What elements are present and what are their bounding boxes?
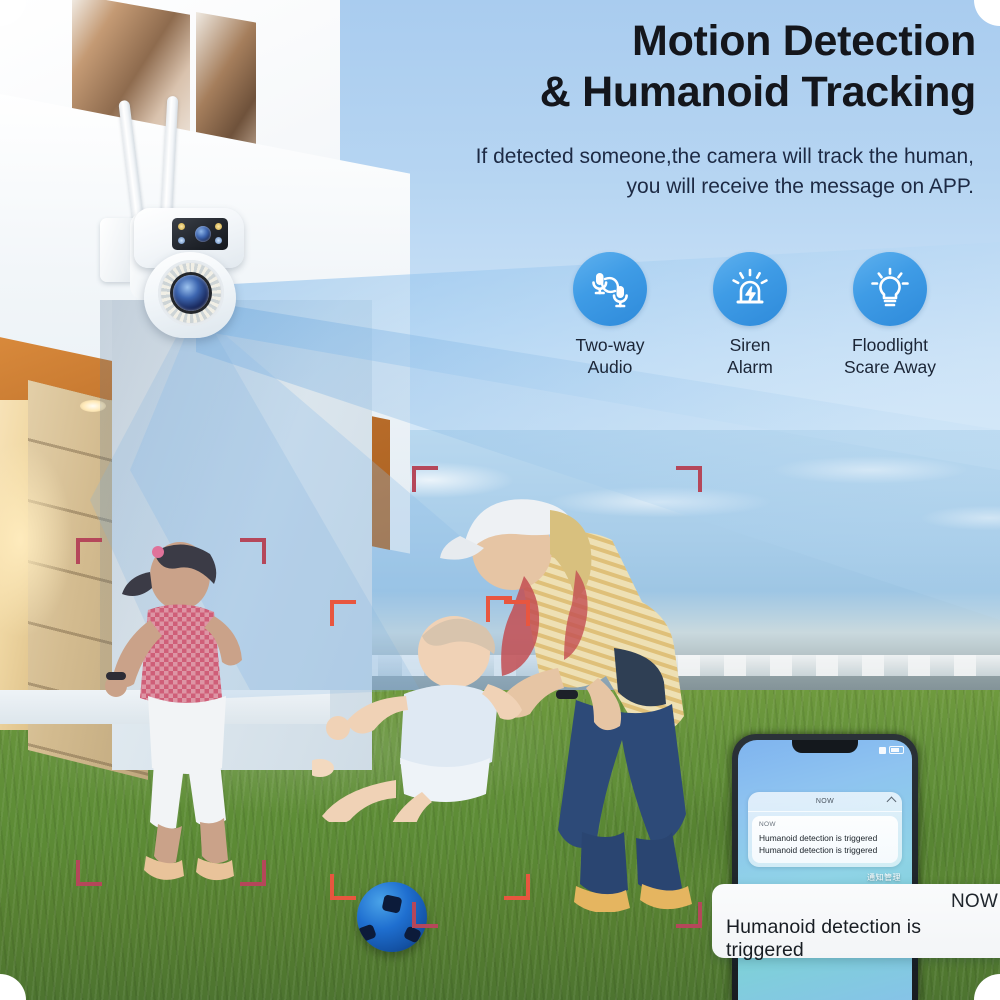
wall-light-glow — [0, 430, 95, 670]
feature-label-line2: Audio — [588, 357, 633, 377]
feature-label-two-way-audio: Two-way Audio — [575, 335, 644, 378]
notification-header-label: NOW — [816, 798, 834, 805]
notification-card[interactable]: NOW Humanoid detection is triggered Huma… — [752, 816, 898, 863]
feature-label-line2: Alarm — [727, 357, 773, 377]
feature-label-line1: Two-way — [575, 335, 644, 355]
notification-line-2: Humanoid detection is triggered — [759, 844, 891, 856]
headline-line-2: & Humanoid Tracking — [336, 67, 976, 118]
phone-notch — [792, 740, 858, 753]
baby — [312, 612, 542, 822]
antenna-left — [118, 100, 145, 228]
callout-time: NOW — [726, 890, 998, 914]
notification-panel-header: NOW — [748, 792, 902, 812]
antenna-right — [161, 96, 179, 224]
feature-siren-alarm: Siren Alarm — [680, 252, 820, 392]
chevron-up-icon[interactable] — [887, 797, 897, 807]
signal-icon — [879, 747, 886, 754]
product-marketing-image: Motion Detection & Humanoid Tracking If … — [0, 0, 1000, 1000]
phone-status-bar — [879, 746, 904, 754]
feature-label-line2: Scare Away — [844, 357, 936, 377]
security-camera — [96, 100, 266, 350]
notification-panel[interactable]: NOW NOW Humanoid detection is triggered … — [748, 792, 902, 867]
floodlight-icon — [853, 252, 927, 326]
subtitle-line-2: you will receive the message on APP. — [627, 175, 974, 198]
feature-label-floodlight: Floodlight Scare Away — [844, 335, 936, 378]
battery-icon — [889, 746, 904, 754]
notification-line-1: Humanoid detection is triggered — [759, 832, 891, 844]
notification-manage-link[interactable]: 通知管理 — [867, 872, 901, 883]
feature-floodlight: Floodlight Scare Away — [820, 252, 960, 392]
callout-message: Humanoid detection is triggered — [726, 916, 998, 962]
feature-label-siren-alarm: Siren Alarm — [727, 335, 773, 378]
feature-label-line1: Siren — [730, 335, 771, 355]
camera-main-lens — [173, 275, 209, 311]
soccer-ball — [357, 882, 427, 952]
feature-label-line1: Floodlight — [852, 335, 928, 355]
feature-list: Two-way Audio Siren — [540, 252, 960, 392]
siren-alarm-icon — [713, 252, 787, 326]
headline-line-1: Motion Detection — [632, 17, 976, 65]
notification-callout: NOW Humanoid detection is triggered — [712, 884, 1000, 958]
running-girl — [92, 536, 272, 886]
subtitle-line-1: If detected someone,the camera will trac… — [476, 145, 974, 168]
two-way-audio-icon — [573, 252, 647, 326]
page-subtitle: If detected someone,the camera will trac… — [354, 142, 974, 202]
page-title: Motion Detection & Humanoid Tracking — [336, 16, 976, 117]
notification-time: NOW — [759, 821, 891, 828]
camera-top-lens-module — [172, 218, 228, 250]
feature-two-way-audio: Two-way Audio — [540, 252, 680, 392]
